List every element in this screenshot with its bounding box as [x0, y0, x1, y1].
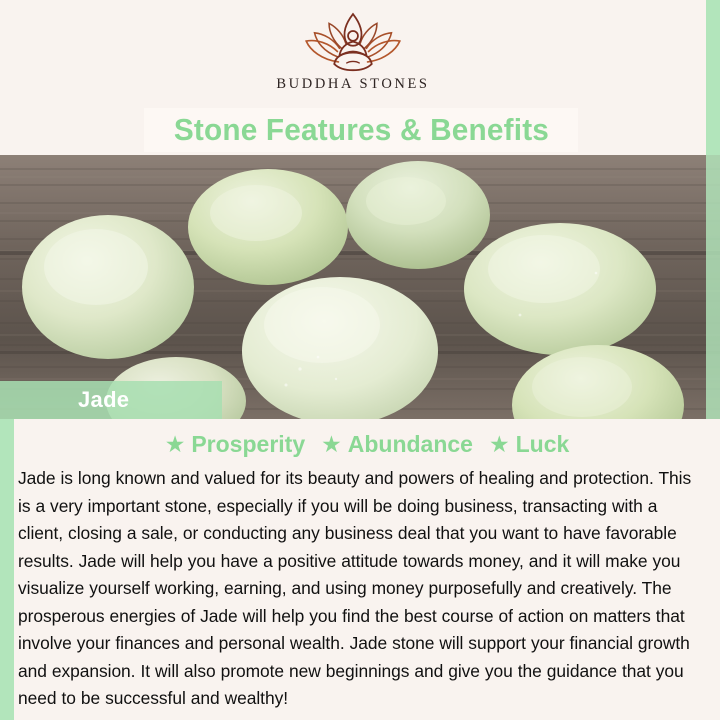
stone-description: Jade is long known and valued for its be…: [14, 463, 720, 713]
benefit-item: ★ Prosperity: [165, 431, 305, 458]
star-icon: ★: [165, 433, 186, 456]
brand-wordmark: BUDDHA STONES: [276, 76, 429, 93]
benefit-label: Abundance: [348, 431, 473, 458]
star-icon: ★: [489, 433, 510, 456]
stone-photo: [0, 155, 720, 419]
stone-name-label: Jade: [0, 387, 129, 413]
photo-right-green-veil: [706, 155, 720, 419]
benefit-item: ★ Abundance: [321, 431, 473, 458]
benefit-label: Prosperity: [191, 431, 305, 458]
content-panel: ★ Prosperity ★ Abundance ★ Luck Jade is …: [14, 419, 720, 720]
stone-name-caption: Jade: [0, 381, 222, 419]
title-banner: Stone Features & Benefits: [144, 108, 578, 152]
infographic-card: BUDDHA STONES Stone Features & Benefits: [0, 0, 720, 720]
star-icon: ★: [321, 433, 342, 456]
benefit-label: Luck: [516, 431, 570, 458]
brand-header: BUDDHA STONES: [0, 0, 706, 108]
benefit-item: ★ Luck: [489, 431, 569, 458]
benefits-row: ★ Prosperity ★ Abundance ★ Luck: [14, 419, 720, 463]
lotus-meditation-icon: [301, 12, 405, 74]
page-title: Stone Features & Benefits: [173, 112, 548, 148]
